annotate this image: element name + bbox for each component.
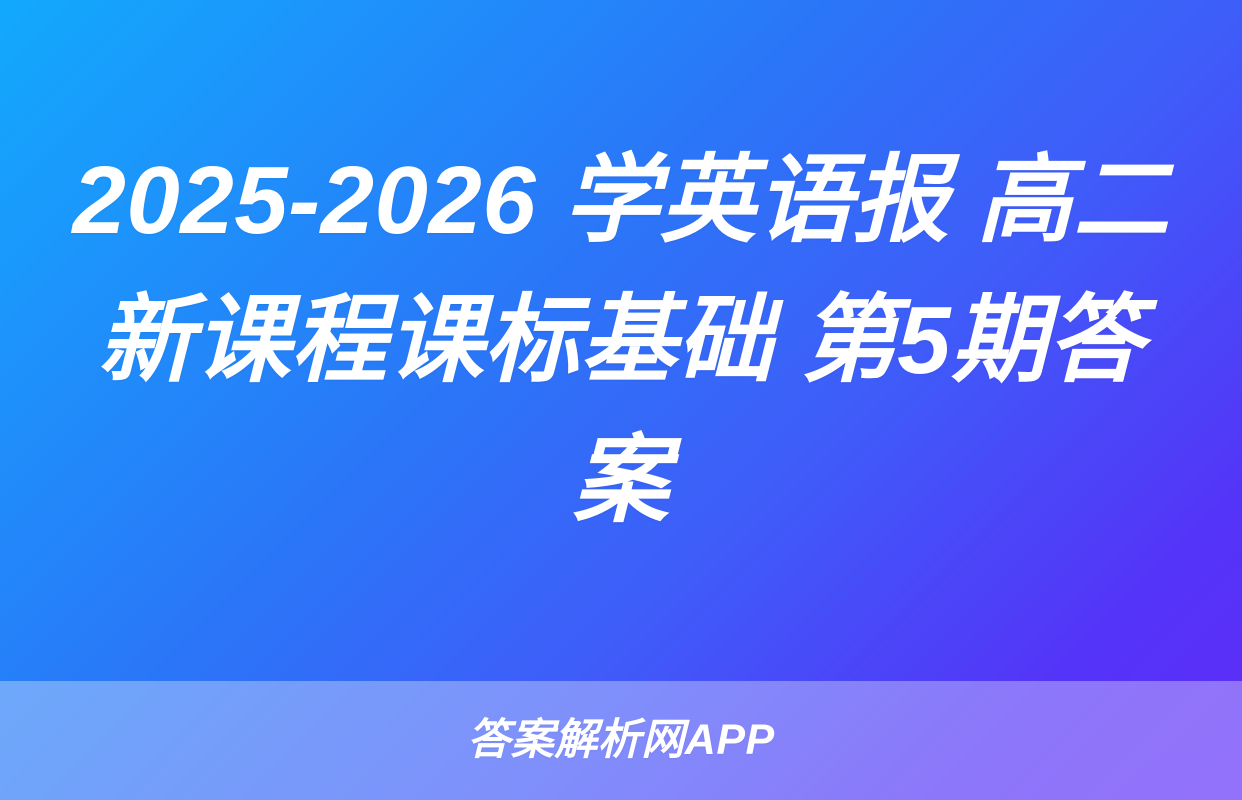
- brand-watermark-label: 答案解析网APP: [467, 719, 774, 762]
- brand-footer-band: 答案解析网APP: [0, 681, 1242, 800]
- title-container: 2025-2026 学英语报 高二 新课程课标基础 第5期答案: [0, 0, 1242, 681]
- page-title: 2025-2026 学英语报 高二 新课程课标基础 第5期答案: [56, 131, 1186, 551]
- answer-poster-card: 2025-2026 学英语报 高二 新课程课标基础 第5期答案 答案解析网APP: [0, 0, 1242, 800]
